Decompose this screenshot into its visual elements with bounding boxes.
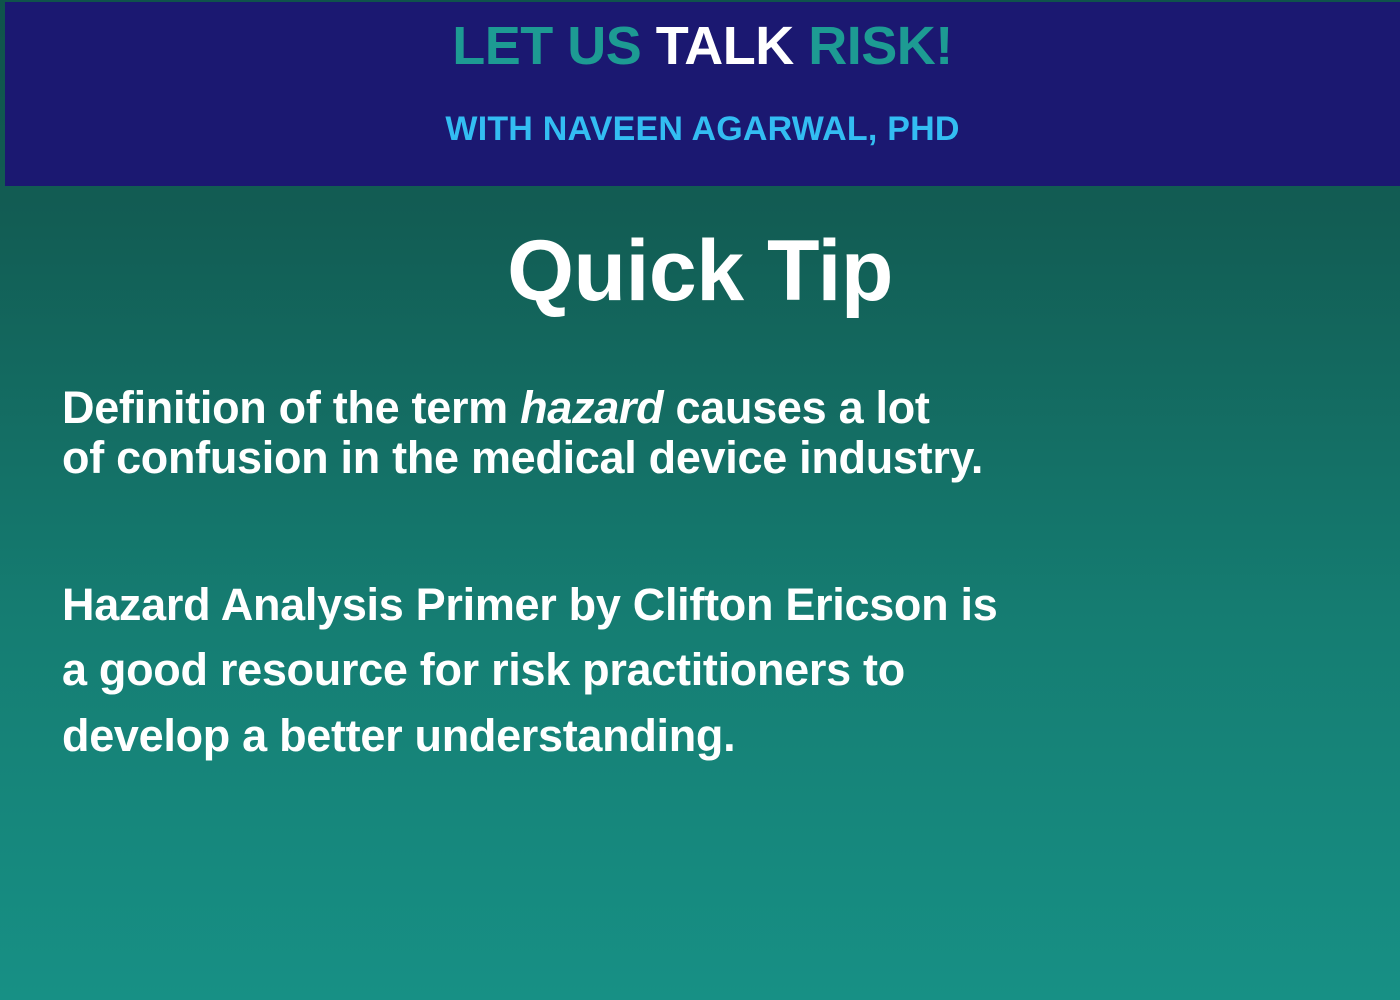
resource-line-1: Hazard Analysis Primer by Clifton Ericso…	[62, 579, 997, 630]
page-title: Quick Tip	[0, 228, 1400, 314]
show-title: LET US TALK RISK!	[5, 18, 1400, 75]
resource-line-2: a good resource for risk practitioners t…	[62, 644, 905, 695]
show-title-segment-1: LET US	[452, 16, 656, 76]
slide-canvas: LET US TALK RISK! WITH NAVEEN AGARWAL, P…	[0, 0, 1400, 1000]
tip-body-text: Definition of the term hazard causes a l…	[62, 383, 1362, 768]
definition-line-1: Definition of the term hazard causes a l…	[62, 382, 930, 433]
show-title-segment-2: TALK	[656, 16, 808, 76]
show-header-banner: LET US TALK RISK! WITH NAVEEN AGARWAL, P…	[5, 2, 1400, 186]
definition-paragraph: Definition of the term hazard causes a l…	[62, 383, 1362, 482]
definition-line-2: of confusion in the medical device indus…	[62, 432, 983, 483]
hazard-emphasis-term: hazard	[520, 382, 663, 433]
resource-paragraph: Hazard Analysis Primer by Clifton Ericso…	[62, 572, 1362, 768]
resource-line-3: develop a better understanding.	[62, 710, 735, 761]
show-title-segment-3: RISK!	[808, 16, 953, 76]
show-subtitle: WITH NAVEEN AGARWAL, PHD	[5, 110, 1400, 149]
definition-text-before-emphasis: Definition of the term	[62, 382, 520, 433]
slide-body: Quick Tip Definition of the term hazard …	[0, 186, 1400, 1000]
definition-text-after-emphasis: causes a lot	[663, 382, 929, 433]
